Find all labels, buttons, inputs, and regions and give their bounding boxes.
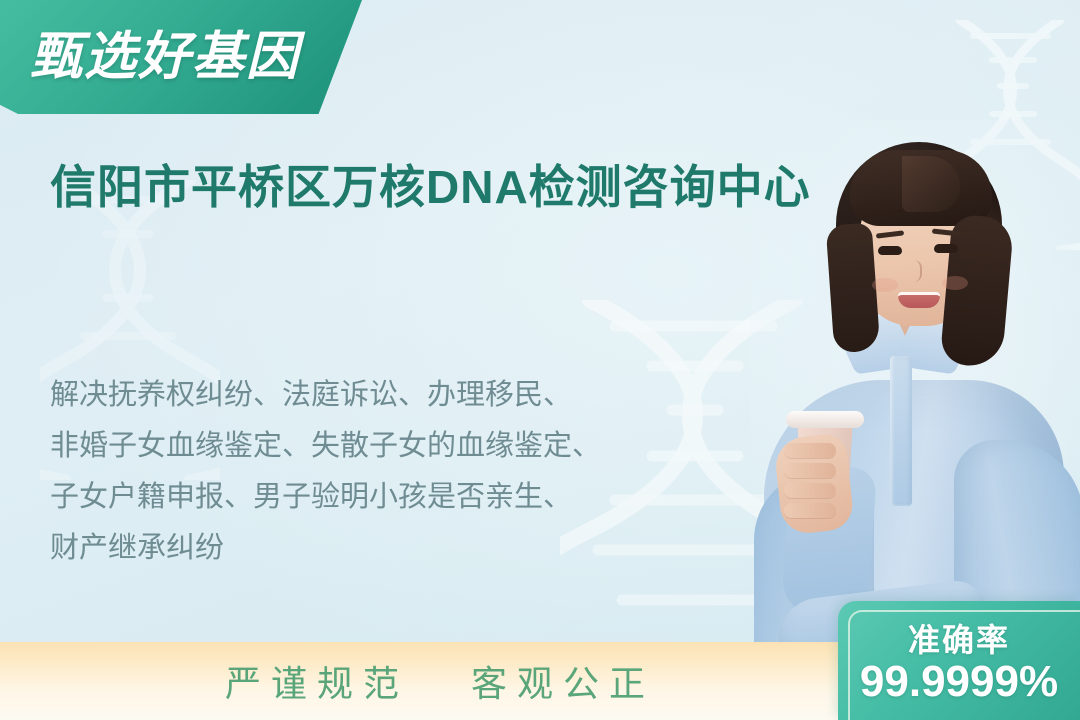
service-line: 非婚子女血缘鉴定、失散子女的血缘鉴定、 — [50, 421, 750, 472]
eye-right — [934, 244, 958, 253]
slogan-text-group: 严谨规范 客观公正 — [0, 642, 880, 720]
accuracy-label: 准确率 — [838, 615, 1080, 661]
finger — [784, 503, 836, 518]
accuracy-value: 99.9999% — [838, 657, 1080, 707]
page-title: 信阳市平桥区万核DNA检测咨询中心 — [50, 158, 820, 216]
finger — [784, 443, 836, 458]
slogan-item-1: 严谨规范 — [225, 655, 409, 707]
service-line: 财产继承纠纷 — [50, 523, 750, 574]
hair-fringe — [850, 150, 992, 226]
nose — [910, 260, 922, 282]
eye-left — [878, 246, 902, 255]
shirt-placket — [890, 356, 912, 506]
service-description: 解决抚养权纠纷、法庭诉讼、办理移民、 非婚子女血缘鉴定、失散子女的血缘鉴定、 子… — [50, 370, 750, 574]
cheek-right — [942, 276, 968, 290]
service-line: 子女户籍申报、男子验明小孩是否亲生、 — [50, 472, 750, 523]
cheek-left — [872, 278, 898, 292]
slogan-item-2: 客观公正 — [471, 655, 655, 707]
finger — [784, 483, 836, 498]
logo-text: 甄选好基因 — [30, 22, 330, 92]
accuracy-badge: 准确率 99.9999% — [838, 601, 1080, 720]
mouth — [898, 292, 940, 308]
coffee-cup-lid — [786, 411, 864, 428]
promotional-poster: 甄选好基因 信阳市平桥区万核DNA检测咨询中心 解决抚养权纠纷、法庭诉讼、办理移… — [0, 0, 1080, 720]
service-line: 解决抚养权纠纷、法庭诉讼、办理移民、 — [50, 370, 750, 421]
hair-strand-left — [826, 223, 881, 354]
finger — [784, 463, 836, 478]
